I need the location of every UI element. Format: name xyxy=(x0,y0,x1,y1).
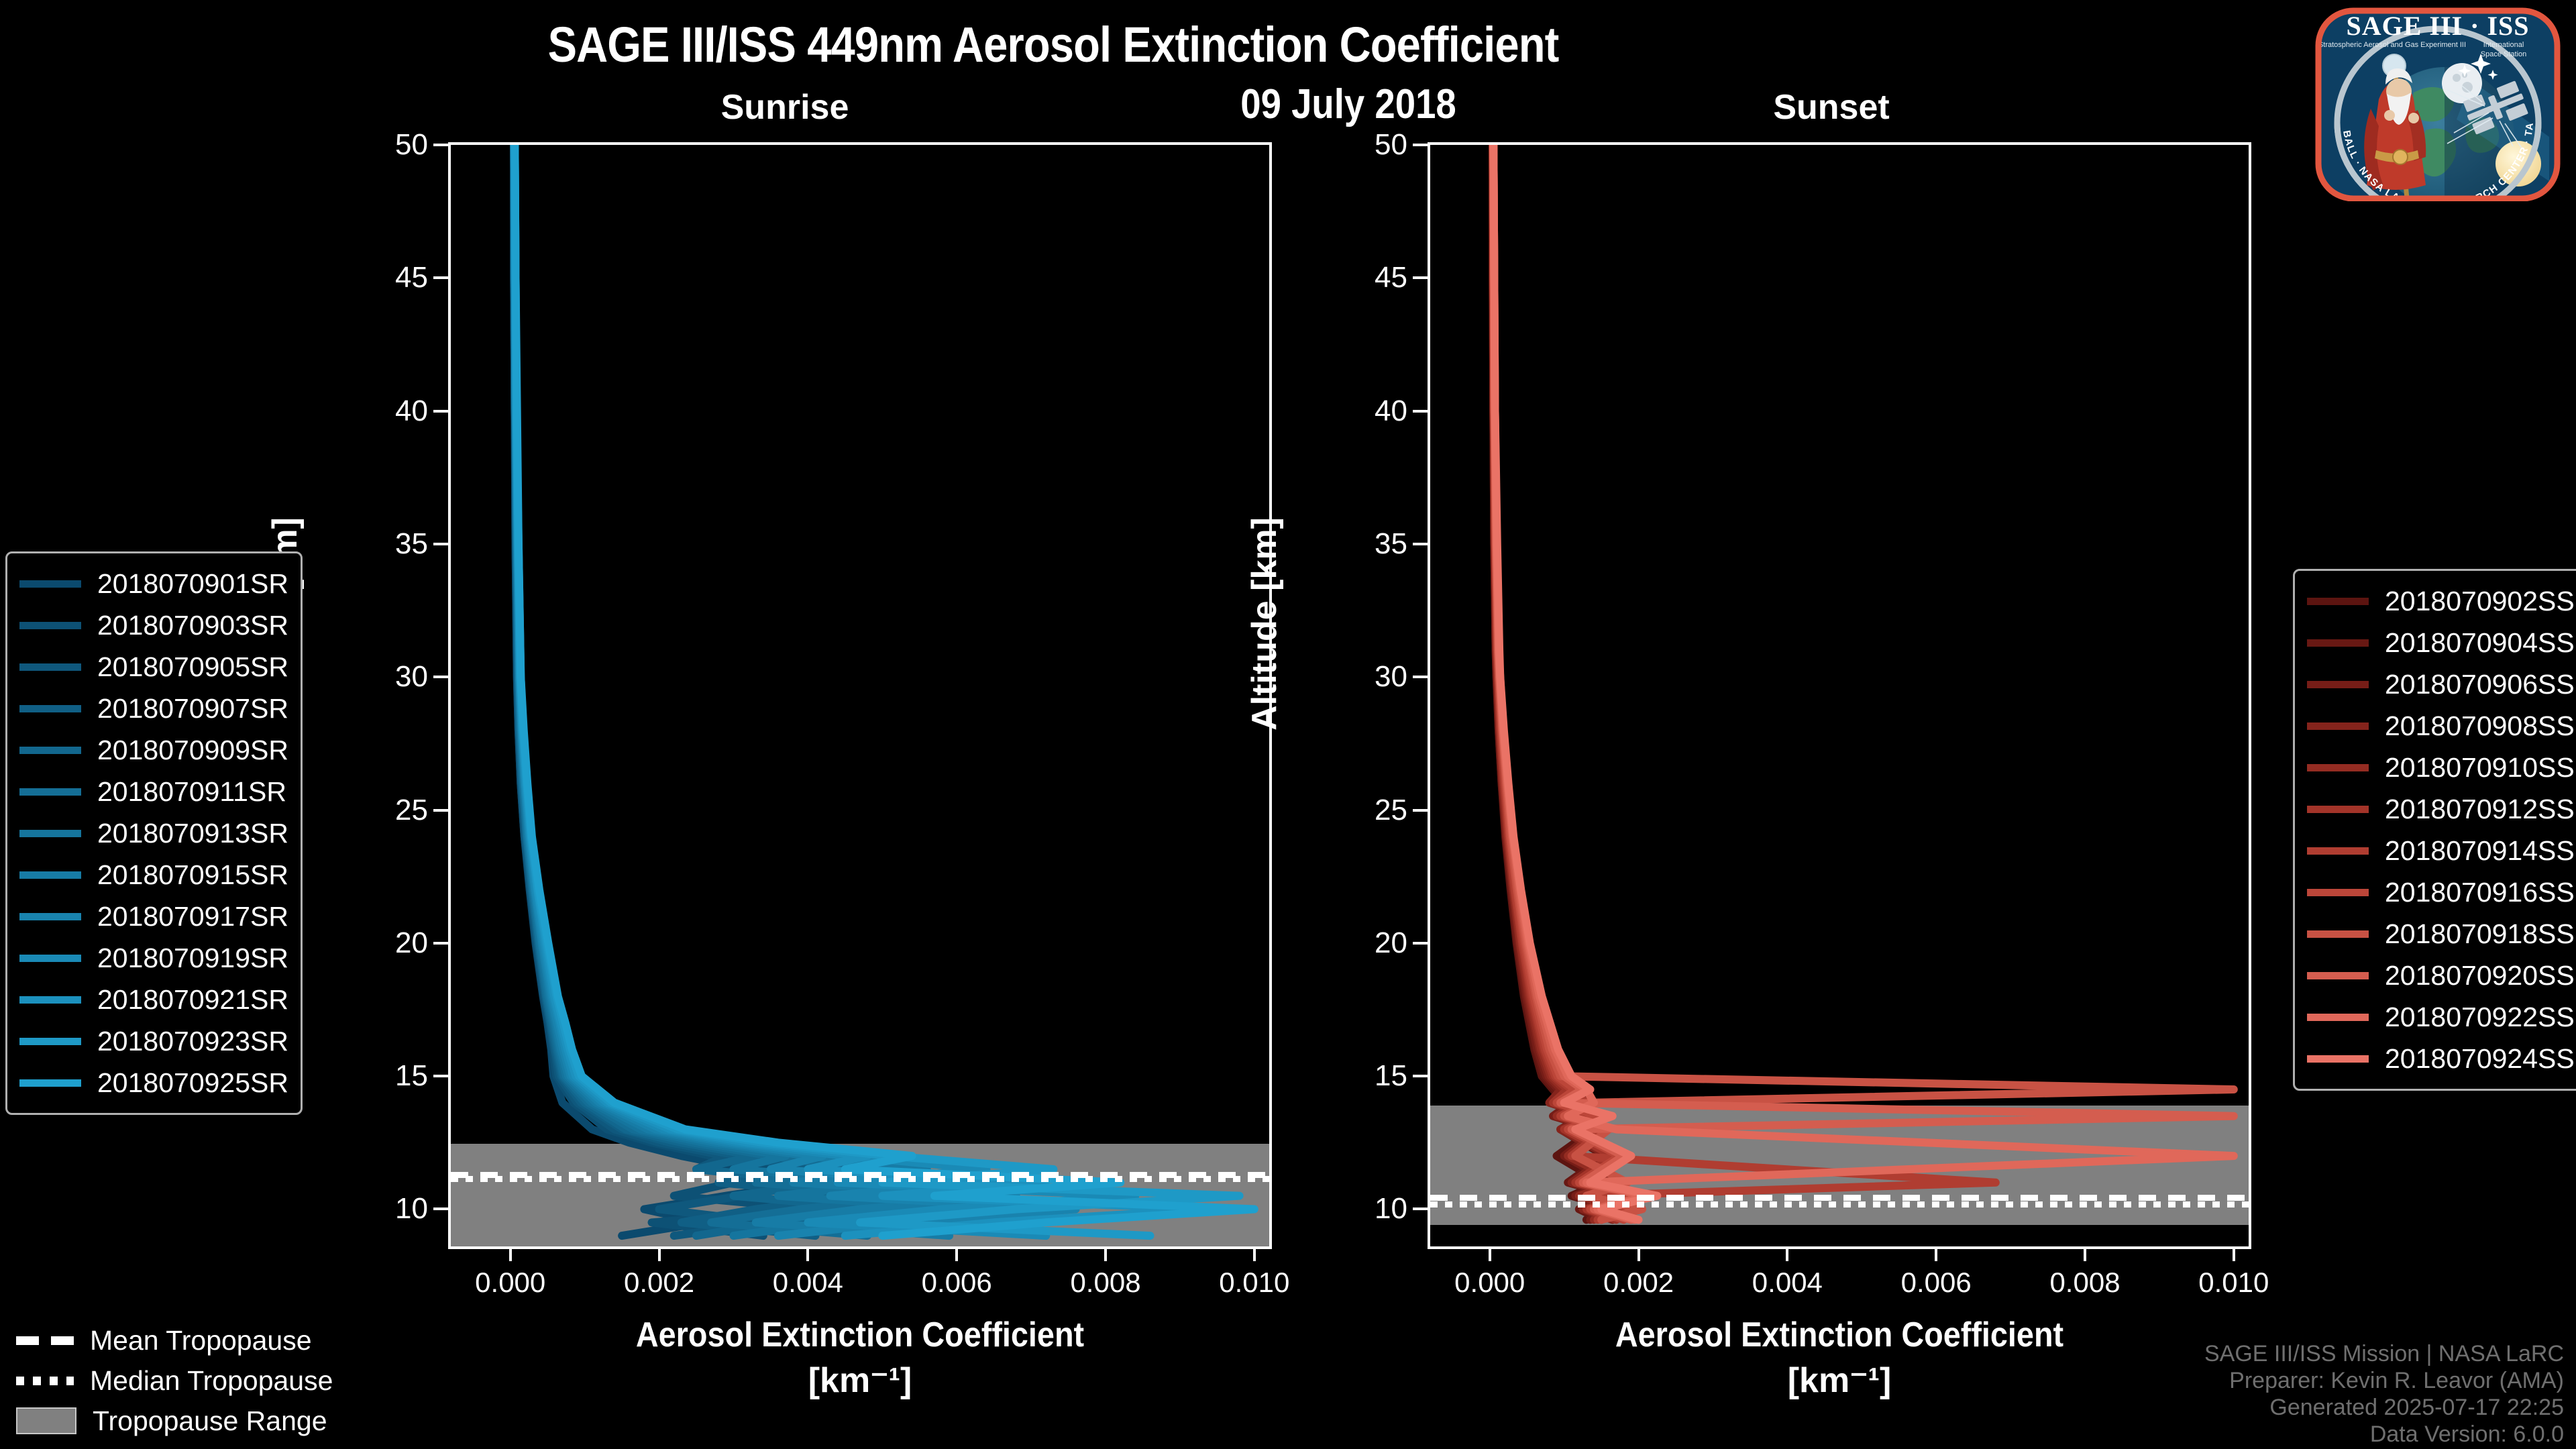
legend-line-swatch-icon xyxy=(2307,764,2369,771)
x-tick xyxy=(1104,1246,1107,1261)
legend-label-sunset-9: 2018070920SS xyxy=(2385,960,2575,991)
legend-label-sunset-4: 2018070910SS xyxy=(2385,752,2575,784)
legend-item-sunset-8[interactable]: 2018070918SS xyxy=(2307,913,2575,955)
legend-label-sunset-3: 2018070908SS xyxy=(2385,710,2575,742)
y-tick-label-20: 20 xyxy=(395,926,428,960)
legend-line-swatch-icon xyxy=(2307,1014,2369,1021)
y-tick-label-10: 10 xyxy=(1375,1192,1407,1226)
legend-item-sunset-0[interactable]: 2018070902SS xyxy=(2307,580,2575,622)
y-tick xyxy=(433,676,451,678)
y-tick xyxy=(433,1075,451,1077)
legend-item-tropopause-range: Tropopause Range xyxy=(16,1401,333,1441)
y-tick-label-25: 25 xyxy=(395,794,428,827)
profile-line-2018070924SS xyxy=(1493,145,1657,1220)
legend-line-swatch-icon xyxy=(19,996,81,1004)
legend-item-sunrise-2[interactable]: 2018070905SR xyxy=(19,646,288,688)
credits-line-1: SAGE III/ISS Mission | NASA LaRC xyxy=(2204,1340,2564,1367)
y-tick-label-20: 20 xyxy=(1375,926,1407,960)
legend-item-sunrise-10[interactable]: 2018070921SR xyxy=(19,979,288,1020)
legend-line-swatch-icon xyxy=(19,955,81,962)
legend-label-sunset-5: 2018070912SS xyxy=(2385,794,2575,825)
x-tick xyxy=(1786,1246,1788,1261)
legend-line-swatch-icon xyxy=(19,1038,81,1045)
x-tick-label-0.004: 0.004 xyxy=(1752,1267,1823,1299)
legend-line-swatch-icon xyxy=(2307,639,2369,647)
legend-item-sunrise-5[interactable]: 2018070911SR xyxy=(19,771,288,812)
mean-tropopause-line xyxy=(1430,1195,2249,1201)
legend-line-swatch-icon xyxy=(2307,972,2369,979)
mission-patch-svg: BALL · NASA LANGLEY RESEARCH CENTER · TA… xyxy=(2313,5,2563,201)
legend-item-sunset-7[interactable]: 2018070916SS xyxy=(2307,871,2575,913)
legend-item-sunset-10[interactable]: 2018070922SS xyxy=(2307,996,2575,1038)
y-tick xyxy=(433,809,451,812)
legend-line-swatch-icon xyxy=(19,1079,81,1087)
legend-item-sunrise-1[interactable]: 2018070903SR xyxy=(19,604,288,646)
tropopause-legend: Mean Tropopause Median Tropopause Tropop… xyxy=(16,1320,333,1441)
legend-line-swatch-icon xyxy=(19,747,81,754)
y-tick xyxy=(1413,942,1430,945)
y-tick xyxy=(1413,276,1430,279)
x-tick xyxy=(1638,1246,1640,1261)
profile-line-2018070919SR xyxy=(515,145,1135,1236)
legend-label-sunset-6: 2018070914SS xyxy=(2385,835,2575,867)
legend-item-sunset-2[interactable]: 2018070906SS xyxy=(2307,663,2575,705)
legend-line-swatch-icon xyxy=(19,580,81,588)
y-tick-label-10: 10 xyxy=(395,1192,428,1226)
legend-item-sunset-6[interactable]: 2018070914SS xyxy=(2307,830,2575,871)
x-tick xyxy=(1935,1246,1937,1261)
y-tick xyxy=(1413,676,1430,678)
legend-line-swatch-icon xyxy=(19,788,81,796)
legend-label-sunset-10: 2018070922SS xyxy=(2385,1002,2575,1033)
legend-label-sunset-0: 2018070902SS xyxy=(2385,586,2575,617)
sunset-plot-area xyxy=(1430,145,2249,1246)
x-tick-label-0.004: 0.004 xyxy=(773,1267,843,1299)
legend-label-sunrise-8: 2018070917SR xyxy=(97,901,288,932)
y-tick xyxy=(1413,1207,1430,1210)
y-tick-label-35: 35 xyxy=(395,527,428,561)
legend-label-tropopause-range: Tropopause Range xyxy=(93,1405,327,1437)
legend-item-sunrise-6[interactable]: 2018070913SR xyxy=(19,812,288,854)
sunrise-plot[interactable]: 1015202530354045500.0000.0020.0040.0060.… xyxy=(448,142,1272,1249)
legend-item-sunset-3[interactable]: 2018070908SS xyxy=(2307,705,2575,747)
sunset-x-axis-title: Aerosol Extinction Coefficient xyxy=(1468,1315,2210,1355)
legend-line-swatch-icon xyxy=(2307,889,2369,896)
page-title: SAGE III/ISS 449nm Aerosol Extinction Co… xyxy=(126,16,1980,73)
legend-label-sunrise-10: 2018070921SR xyxy=(97,984,288,1016)
x-tick xyxy=(2084,1246,2086,1261)
x-tick xyxy=(1489,1246,1491,1261)
legend-item-sunset-5[interactable]: 2018070912SS xyxy=(2307,788,2575,830)
y-tick xyxy=(433,410,451,413)
sunset-panel-title: Sunset xyxy=(1697,87,1966,127)
x-tick-label-0.006: 0.006 xyxy=(922,1267,992,1299)
legend-line-swatch-icon xyxy=(19,913,81,920)
y-tick xyxy=(1413,144,1430,146)
logo-subtitle-right-2: Space Station xyxy=(2481,50,2527,58)
profile-line-2018070920SS xyxy=(1493,145,2234,1220)
sunset-plot[interactable]: 1015202530354045500.0000.0020.0040.0060.… xyxy=(1428,142,2251,1249)
legend-line-swatch-icon xyxy=(19,663,81,671)
y-tick-label-40: 40 xyxy=(395,394,428,428)
sage-iii-iss-mission-patch-logo: BALL · NASA LANGLEY RESEARCH CENTER · TA… xyxy=(2313,5,2563,201)
x-tick-label-0.000: 0.000 xyxy=(475,1267,545,1299)
legend-line-swatch-icon xyxy=(2307,806,2369,813)
sunset-y-axis-title: Altitude [km] xyxy=(1244,496,1285,751)
legend-item-sunset-11[interactable]: 2018070924SS xyxy=(2307,1038,2575,1079)
legend-label-median-tropopause: Median Tropopause xyxy=(90,1365,333,1397)
median-tropopause-line xyxy=(451,1176,1269,1182)
sunrise-legend[interactable]: 2018070901SR2018070903SR2018070905SR2018… xyxy=(5,551,303,1115)
credits-line-3: Generated 2025-07-17 22:25 xyxy=(2204,1394,2564,1421)
legend-line-swatch-icon xyxy=(19,830,81,837)
dotted-line-icon xyxy=(16,1377,74,1385)
legend-line-swatch-icon xyxy=(2307,722,2369,730)
legend-label-sunrise-0: 2018070901SR xyxy=(97,568,288,600)
legend-item-sunrise-4[interactable]: 2018070909SR xyxy=(19,729,288,771)
y-tick-label-45: 45 xyxy=(395,261,428,294)
legend-label-sunrise-1: 2018070903SR xyxy=(97,610,288,641)
y-tick-label-30: 30 xyxy=(395,660,428,694)
legend-line-swatch-icon xyxy=(2307,847,2369,855)
y-tick-label-50: 50 xyxy=(1375,128,1407,162)
y-tick-label-30: 30 xyxy=(1375,660,1407,694)
legend-item-mean-tropopause: Mean Tropopause xyxy=(16,1320,333,1360)
legend-line-swatch-icon xyxy=(2307,681,2369,688)
x-tick-label-0.006: 0.006 xyxy=(1901,1267,1972,1299)
legend-item-sunrise-3[interactable]: 2018070907SR xyxy=(19,688,288,729)
x-tick-label-0.008: 0.008 xyxy=(1070,1267,1140,1299)
x-tick xyxy=(1253,1246,1256,1261)
legend-item-sunrise-0[interactable]: 2018070901SR xyxy=(19,563,288,604)
x-tick-label-0.000: 0.000 xyxy=(1454,1267,1525,1299)
legend-item-sunrise-9[interactable]: 2018070919SR xyxy=(19,937,288,979)
y-tick xyxy=(1413,410,1430,413)
legend-label-sunset-7: 2018070916SS xyxy=(2385,877,2575,908)
x-tick-label-0.008: 0.008 xyxy=(2049,1267,2120,1299)
median-tropopause-line xyxy=(1430,1201,2249,1207)
legend-line-swatch-icon xyxy=(19,622,81,629)
legend-item-median-tropopause: Median Tropopause xyxy=(16,1360,333,1401)
y-tick xyxy=(433,942,451,945)
sunrise-x-axis-unit: [km⁻¹] xyxy=(448,1360,1272,1401)
x-tick xyxy=(658,1246,661,1261)
legend-item-sunrise-7[interactable]: 2018070915SR xyxy=(19,854,288,896)
sunrise-panel-title: Sunrise xyxy=(651,87,919,127)
sunset-profile-curves xyxy=(1430,145,2249,1246)
y-tick-label-25: 25 xyxy=(1375,794,1407,827)
y-tick xyxy=(433,543,451,545)
y-tick xyxy=(433,1207,451,1210)
y-tick-label-35: 35 xyxy=(1375,527,1407,561)
y-tick xyxy=(1413,1075,1430,1077)
legend-label-sunrise-3: 2018070907SR xyxy=(97,693,288,724)
y-tick-label-40: 40 xyxy=(1375,394,1407,428)
y-tick xyxy=(1413,809,1430,812)
profile-line-2018070917SR xyxy=(515,145,1075,1236)
y-tick-label-50: 50 xyxy=(395,128,428,162)
legend-label-sunset-1: 2018070904SS xyxy=(2385,627,2575,659)
legend-item-sunset-9[interactable]: 2018070920SS xyxy=(2307,955,2575,996)
y-tick xyxy=(433,276,451,279)
x-tick-label-0.010: 0.010 xyxy=(2198,1267,2269,1299)
sunset-x-axis-unit: [km⁻¹] xyxy=(1428,1360,2251,1401)
profile-line-2018070915SR xyxy=(514,145,1016,1236)
y-tick-label-45: 45 xyxy=(1375,261,1407,294)
credits-line-4: Data Version: 6.0.0 xyxy=(2204,1421,2564,1448)
legend-item-sunset-1[interactable]: 2018070904SS xyxy=(2307,622,2575,663)
legend-item-sunrise-8[interactable]: 2018070917SR xyxy=(19,896,288,937)
profile-line-2018070923SR xyxy=(515,145,1239,1236)
y-tick xyxy=(1413,543,1430,545)
legend-item-sunrise-11[interactable]: 2018070923SR xyxy=(19,1020,288,1062)
y-tick xyxy=(433,144,451,146)
legend-label-sunset-2: 2018070906SS xyxy=(2385,669,2575,700)
credits-line-2: Preparer: Kevin R. Leavor (AMA) xyxy=(2204,1367,2564,1394)
x-tick-label-0.002: 0.002 xyxy=(624,1267,694,1299)
profile-line-2018070925SR xyxy=(515,145,1254,1236)
legend-label-sunrise-7: 2018070915SR xyxy=(97,859,288,891)
sunrise-x-axis-title: Aerosol Extinction Coefficient xyxy=(489,1315,1230,1355)
legend-line-swatch-icon xyxy=(19,705,81,712)
y-tick-label-15: 15 xyxy=(395,1059,428,1093)
x-tick xyxy=(509,1246,512,1261)
date-title: 09 July 2018 xyxy=(1083,80,1614,128)
x-tick xyxy=(955,1246,958,1261)
logo-subtitle-right-1: International xyxy=(2483,41,2524,49)
x-tick-label-0.002: 0.002 xyxy=(1603,1267,1674,1299)
legend-item-sunrise-12[interactable]: 2018070925SR xyxy=(19,1062,288,1104)
legend-label-sunrise-9: 2018070919SR xyxy=(97,943,288,974)
legend-label-sunrise-4: 2018070909SR xyxy=(97,735,288,766)
legend-label-sunset-11: 2018070924SS xyxy=(2385,1043,2575,1075)
legend-line-swatch-icon xyxy=(19,871,81,879)
credits-block: SAGE III/ISS Mission | NASA LaRC Prepare… xyxy=(2204,1340,2564,1448)
logo-subtitle-left: Stratospheric Aerosol and Gas Experiment… xyxy=(2318,41,2466,49)
legend-label-mean-tropopause: Mean Tropopause xyxy=(90,1325,312,1356)
legend-label-sunrise-12: 2018070925SR xyxy=(97,1067,288,1099)
x-tick xyxy=(806,1246,809,1261)
logo-title: SAGE III · ISS xyxy=(2346,11,2529,41)
legend-label-sunrise-2: 2018070905SR xyxy=(97,651,288,683)
y-tick-label-15: 15 xyxy=(1375,1059,1407,1093)
profile-line-2018070918SS xyxy=(1493,145,2234,1220)
legend-item-sunset-4[interactable]: 2018070910SS xyxy=(2307,747,2575,788)
x-tick-label-0.010: 0.010 xyxy=(1219,1267,1289,1299)
legend-label-sunrise-11: 2018070923SR xyxy=(97,1026,288,1057)
legend-line-swatch-icon xyxy=(2307,930,2369,938)
profile-line-2018070922SS xyxy=(1493,145,2234,1220)
legend-label-sunrise-5: 2018070911SR xyxy=(97,776,286,808)
sunrise-plot-area xyxy=(451,145,1269,1246)
gray-band-icon xyxy=(16,1407,76,1434)
profile-line-2018070921SR xyxy=(515,145,1210,1236)
legend-label-sunrise-6: 2018070913SR xyxy=(97,818,288,849)
profile-line-2018070914SS xyxy=(1493,145,1996,1220)
legend-line-swatch-icon xyxy=(2307,1055,2369,1063)
sunset-legend[interactable]: 2018070902SS2018070904SS2018070906SS2018… xyxy=(2293,569,2576,1091)
dashed-line-icon xyxy=(16,1336,74,1345)
legend-line-swatch-icon xyxy=(2307,598,2369,605)
x-tick xyxy=(2233,1246,2235,1261)
sunrise-profile-curves xyxy=(451,145,1269,1246)
legend-label-sunset-8: 2018070918SS xyxy=(2385,918,2575,950)
